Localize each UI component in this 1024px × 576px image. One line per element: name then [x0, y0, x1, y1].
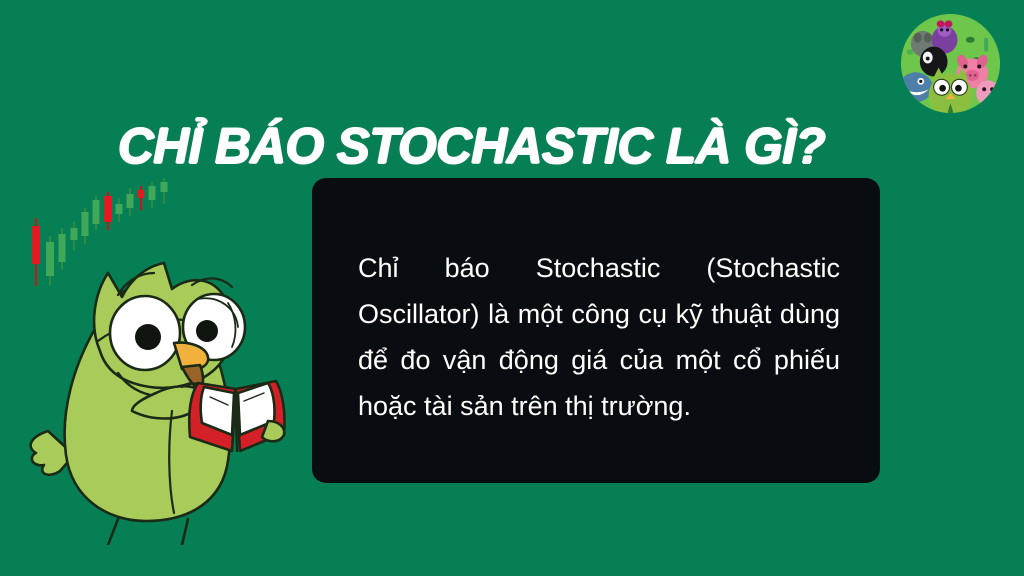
owl-mascot: [22, 215, 312, 545]
description-card: Chỉ báo Stochastic (Stochastic Oscillato…: [312, 178, 880, 483]
owl-mascot-artwork: [22, 215, 312, 545]
logo-artwork: [901, 14, 1000, 113]
page-title: CHỈ BÁO STOCHASTIC LÀ GÌ?: [118, 117, 900, 177]
channel-avatar-logo[interactable]: [901, 14, 1000, 113]
description-text: Chỉ báo Stochastic (Stochastic Oscillato…: [358, 245, 840, 429]
slide-canvas: CHỈ BÁO STOCHASTIC LÀ GÌ?: [0, 0, 1024, 576]
